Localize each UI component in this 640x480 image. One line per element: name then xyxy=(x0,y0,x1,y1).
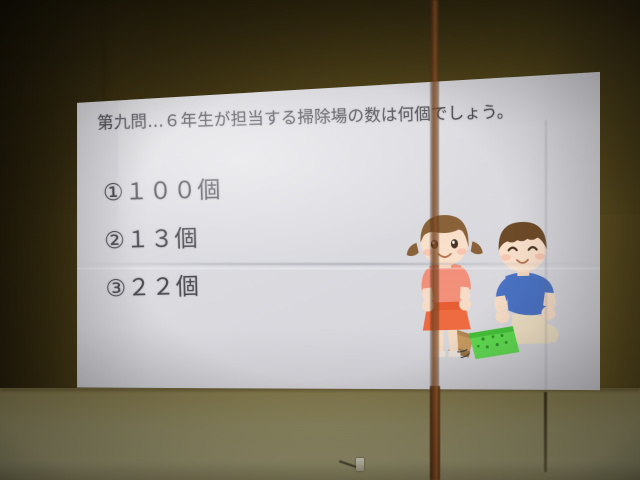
choice-text-2: １３個 xyxy=(126,226,199,254)
choice-text-3: ２２個 xyxy=(127,274,200,302)
wall-outlet xyxy=(356,458,364,471)
screen-crease xyxy=(76,263,600,265)
thin-post-upper xyxy=(545,120,547,390)
thin-post xyxy=(544,392,547,472)
screen-crease-highlight xyxy=(76,268,600,269)
slide-content: 第九問…６年生が担当する掃除場の数は何個でしょう。 ①１００個 ②１３個 ③２２… xyxy=(72,56,605,392)
choice-text-1: １００個 xyxy=(124,177,221,206)
choice-marker-3: ③ xyxy=(105,276,128,303)
choice-marker-2: ② xyxy=(104,228,127,255)
answer-choice-1[interactable]: ①１００個 xyxy=(102,167,343,207)
projection-screen: 第九問…６年生が担当する掃除場の数は何個でしょう。 ①１００個 ②１３個 ③２２… xyxy=(76,70,600,392)
answer-choice-2[interactable]: ②１３個 xyxy=(104,215,345,255)
choice-marker-1: ① xyxy=(103,180,126,207)
vertical-post-lower xyxy=(430,386,440,480)
slide-title: 第九問…６年生が担当する掃除場の数は何個でしょう。 xyxy=(97,97,567,134)
answer-choice-3[interactable]: ③２２個 xyxy=(105,263,346,303)
photo-scene: 第九問…６年生が担当する掃除場の数は何個でしょう。 ①１００個 ②１３個 ③２２… xyxy=(0,0,640,480)
boy-figure xyxy=(492,221,559,345)
answer-choice-list: ①１００個 ②１３個 ③２２個 xyxy=(102,167,346,317)
